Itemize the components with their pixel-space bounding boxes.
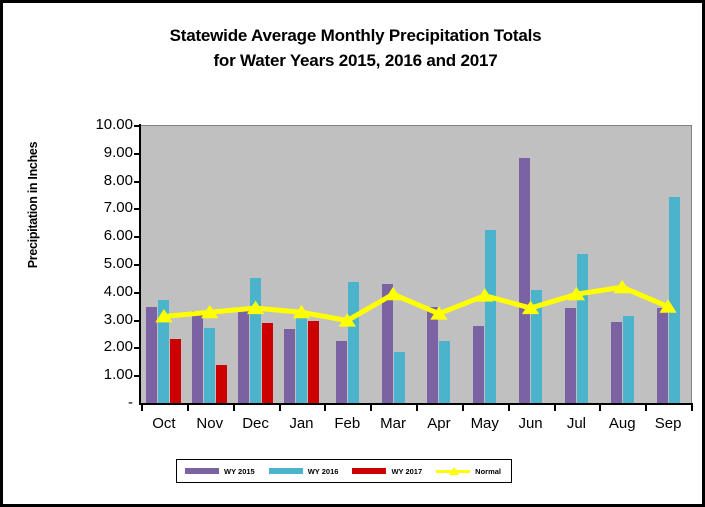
bar-wy2016-sep	[669, 197, 680, 404]
y-axis-tick-mark	[134, 264, 141, 266]
bar-wy2017-nov	[216, 365, 227, 404]
x-axis-tick-mark	[141, 403, 143, 411]
x-axis-tick-mark	[462, 403, 464, 411]
y-axis-tick-label: 7.00	[67, 199, 133, 216]
x-axis-tick-label-aug: Aug	[599, 415, 645, 432]
bar-wy2016-aug	[623, 316, 634, 404]
chart-title-line-2: for Water Years 2015, 2016 and 2017	[3, 48, 705, 73]
x-axis-tick-label-oct: Oct	[141, 415, 187, 432]
plot-area	[141, 125, 692, 404]
bar-wy2015-jun	[519, 158, 530, 404]
x-axis-tick-label-nov: Nov	[187, 415, 233, 432]
y-axis-tick-label: 3.00	[67, 311, 133, 328]
bar-wy2015-may	[473, 326, 484, 404]
x-axis-tick-label-sep: Sep	[645, 415, 691, 432]
legend-entry-normal[interactable]: Normal	[436, 467, 501, 476]
bar-wy2016-jul	[577, 254, 588, 404]
legend-swatch-wy-2017	[352, 468, 386, 474]
bar-wy2015-mar	[382, 284, 393, 404]
y-axis-title: Precipitation in Inches	[26, 95, 40, 315]
bar-wy2015-apr	[427, 307, 438, 404]
legend-entry-wy-2016[interactable]: WY 2016	[269, 467, 339, 476]
bar-wy2015-aug	[611, 322, 622, 404]
bar-wy2015-feb	[336, 341, 347, 404]
x-axis-tick-mark	[645, 403, 647, 411]
x-axis-tick-mark	[554, 403, 556, 411]
y-axis-tick-label: 5.00	[67, 255, 133, 272]
x-axis-tick-mark	[233, 403, 235, 411]
chart-frame: Statewide Average Monthly Precipitation …	[0, 0, 705, 507]
bar-wy2015-nov	[192, 311, 203, 404]
y-axis-tick-mark	[134, 320, 141, 322]
bar-wy2016-mar	[394, 352, 405, 404]
bar-wy2016-may	[485, 230, 496, 404]
bar-wy2017-jan	[308, 321, 319, 404]
x-axis-tick-mark	[416, 403, 418, 411]
bar-wy2015-oct	[146, 307, 157, 404]
x-axis-tick-mark	[599, 403, 601, 411]
y-axis-tick-label: 9.00	[67, 144, 133, 161]
y-axis-tick-mark	[134, 292, 141, 294]
y-axis-tick-label: 4.00	[67, 283, 133, 300]
y-axis-tick-label: -	[67, 394, 133, 411]
x-axis-tick-label-mar: Mar	[370, 415, 416, 432]
chart-title: Statewide Average Monthly Precipitation …	[3, 23, 705, 73]
y-axis-tick-mark	[134, 236, 141, 238]
x-axis-tick-label-feb: Feb	[324, 415, 370, 432]
bar-wy2016-apr	[439, 341, 450, 404]
bar-wy2015-sep	[657, 308, 668, 404]
x-axis-tick-mark	[370, 403, 372, 411]
x-axis-tick-label-jul: Jul	[554, 415, 600, 432]
legend-label: WY 2015	[224, 467, 255, 476]
y-axis-tick-labels: 10.009.008.007.006.005.004.003.002.001.0…	[63, 125, 133, 403]
y-axis-tick-label: 10.00	[67, 116, 133, 133]
legend-swatch-wy-2015	[185, 468, 219, 474]
bar-wy2015-dec	[238, 307, 249, 404]
bar-wy2016-oct	[158, 300, 169, 404]
legend-swatch-wy-2016	[269, 468, 303, 474]
bars-layer	[141, 126, 691, 404]
bar-wy2015-jan	[284, 329, 295, 404]
y-axis-tick-label: 2.00	[67, 338, 133, 355]
x-axis-tick-label-jan: Jan	[279, 415, 325, 432]
y-axis-tick-label: 8.00	[67, 172, 133, 189]
y-axis-tick-mark	[134, 375, 141, 377]
bar-wy2015-jul	[565, 308, 576, 404]
legend-entry-wy-2015[interactable]: WY 2015	[185, 467, 255, 476]
legend-label: Normal	[475, 467, 501, 476]
x-axis-tick-mark	[187, 403, 189, 411]
bar-wy2016-nov	[204, 328, 215, 404]
x-axis-tick-label-jun: Jun	[508, 415, 554, 432]
chart-title-line-1: Statewide Average Monthly Precipitation …	[3, 23, 705, 48]
x-axis-tick-mark	[279, 403, 281, 411]
y-axis-tick-mark	[134, 153, 141, 155]
y-axis-tick-mark	[134, 208, 141, 210]
bar-wy2016-feb	[348, 282, 359, 404]
bar-wy2016-dec	[250, 278, 261, 404]
x-axis-tick-mark	[324, 403, 326, 411]
legend-label: WY 2016	[308, 467, 339, 476]
x-axis-tick-label-apr: Apr	[416, 415, 462, 432]
x-axis-tick-label-dec: Dec	[233, 415, 279, 432]
legend-label: WY 2017	[391, 467, 422, 476]
y-axis-tick-mark	[134, 125, 141, 127]
y-axis-tick-mark	[134, 181, 141, 183]
x-axis-tick-label-may: May	[462, 415, 508, 432]
x-axis-tick-mark	[691, 403, 693, 411]
y-axis-tick-mark	[134, 347, 141, 349]
bar-wy2017-oct	[170, 339, 181, 404]
chart-legend: WY 2015WY 2016WY 2017Normal	[176, 459, 512, 483]
bar-wy2017-dec	[262, 323, 273, 404]
y-axis-tick-label: 6.00	[67, 227, 133, 244]
x-axis-tick-mark	[508, 403, 510, 411]
y-axis-tick-label: 1.00	[67, 366, 133, 383]
legend-swatch-normal	[436, 470, 470, 473]
bar-wy2016-jun	[531, 290, 542, 404]
legend-marker-triangle-icon	[449, 467, 459, 475]
bar-wy2016-jan	[296, 318, 307, 404]
legend-entry-wy-2017[interactable]: WY 2017	[352, 467, 422, 476]
